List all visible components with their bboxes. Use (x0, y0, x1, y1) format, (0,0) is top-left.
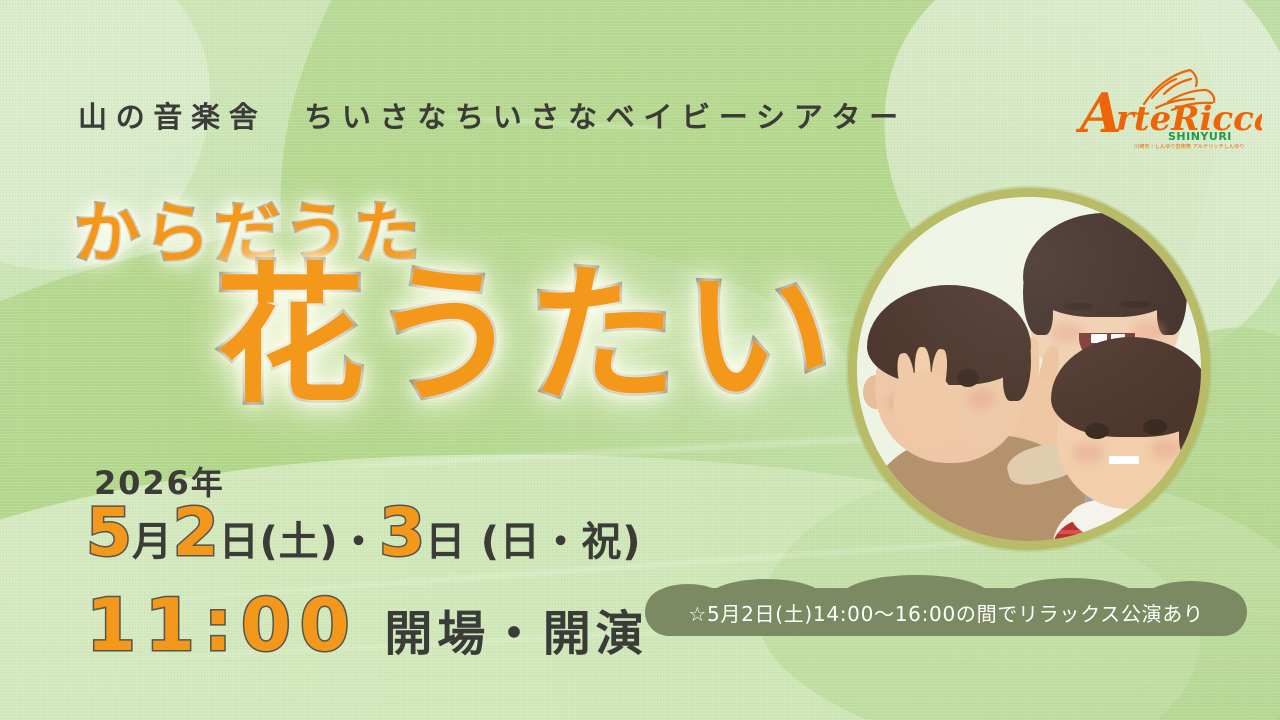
babies-photo-frame (848, 188, 1210, 550)
date-line: 5 月 2 日(土)・ 3 日 (日・祝) (86, 500, 641, 566)
day2-number: 3 (379, 500, 425, 566)
time-label: 開場・開演 (384, 594, 648, 664)
baby-right-eye (1085, 423, 1109, 439)
main-title-hanautai: 花うたい (215, 262, 839, 412)
poster-canvas: 山の音楽舎 ちいさなちいさなベイビーシアター A rteRicca SHINYU… (0, 0, 1280, 720)
series-label: 山の音楽舎 ちいさなちいさなベイビーシアター (78, 94, 907, 136)
day1-unit: 日(土)・ (219, 522, 380, 562)
baby-right-cheek (1151, 439, 1181, 459)
baby-right (857, 197, 909, 225)
day2-unit: 日 (日・祝) (425, 522, 641, 562)
baby-left-cheek (967, 389, 995, 409)
baby-left-eye (957, 369, 979, 387)
month-number: 5 (86, 500, 132, 566)
baby-right-eye (1143, 419, 1167, 435)
baby-center-hair (1023, 213, 1187, 317)
baby-right-mouth (857, 197, 909, 225)
arte-ricca-logo[interactable]: A rteRicca SHINYURI 川崎市・しんゆり芸術祭 アルテリッチしん… (1072, 58, 1262, 150)
logo-tagline: 川崎市・しんゆり芸術祭 アルテリッチしんゆり (1134, 142, 1245, 150)
baby-left-wristband (856, 227, 915, 256)
logo-subtext: SHINYURI (1168, 130, 1232, 143)
babies-photo (857, 197, 1201, 541)
day1-number: 2 (173, 500, 219, 566)
baby-left-hair (867, 285, 1031, 385)
month-unit: 月 (132, 522, 173, 562)
relax-note-text: ☆5月2日(土)14:00〜16:00の間でリラックス公演あり (645, 588, 1247, 636)
baby-right-cheek (1073, 443, 1103, 463)
relax-performance-banner: ☆5月2日(土)14:00〜16:00の間でリラックス公演あり (645, 588, 1247, 636)
baby-center-eye (1119, 301, 1151, 308)
time-value: 11:00 (86, 583, 358, 667)
logo-letter-a: A (1075, 81, 1122, 145)
time-line: 11:00 開場・開演 (86, 583, 648, 667)
baby-center-eye (1063, 303, 1093, 310)
baby-right-tooth (1109, 456, 1139, 464)
